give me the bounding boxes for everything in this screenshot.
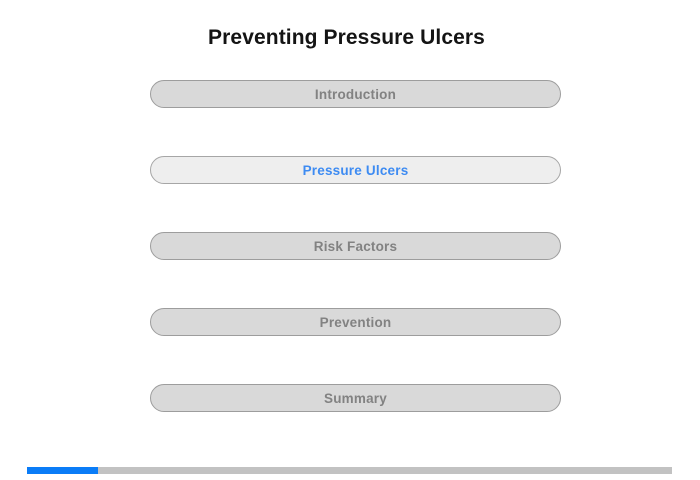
menu-item-label: Prevention <box>157 310 554 336</box>
menu-item-introduction[interactable]: Introduction <box>150 80 561 108</box>
menu-item-risk-factors[interactable]: Risk Factors <box>150 232 561 260</box>
menu-item-prevention[interactable]: Prevention <box>150 308 561 336</box>
page-title: Preventing Pressure Ulcers <box>0 25 693 51</box>
menu-item-label: Introduction <box>157 82 554 108</box>
menu-item-label: Risk Factors <box>157 234 554 260</box>
menu-item-summary[interactable]: Summary <box>150 384 561 412</box>
progress-bar-fill <box>27 467 98 474</box>
app-root: Preventing Pressure Ulcers Introduction … <box>0 0 700 480</box>
progress-bar-track[interactable] <box>27 467 672 474</box>
course-navigation-menu: Introduction Pressure Ulcers Risk Factor… <box>150 80 561 412</box>
menu-item-pressure-ulcers[interactable]: Pressure Ulcers <box>150 156 561 184</box>
menu-item-label: Pressure Ulcers <box>157 158 554 184</box>
menu-item-label: Summary <box>157 386 554 412</box>
